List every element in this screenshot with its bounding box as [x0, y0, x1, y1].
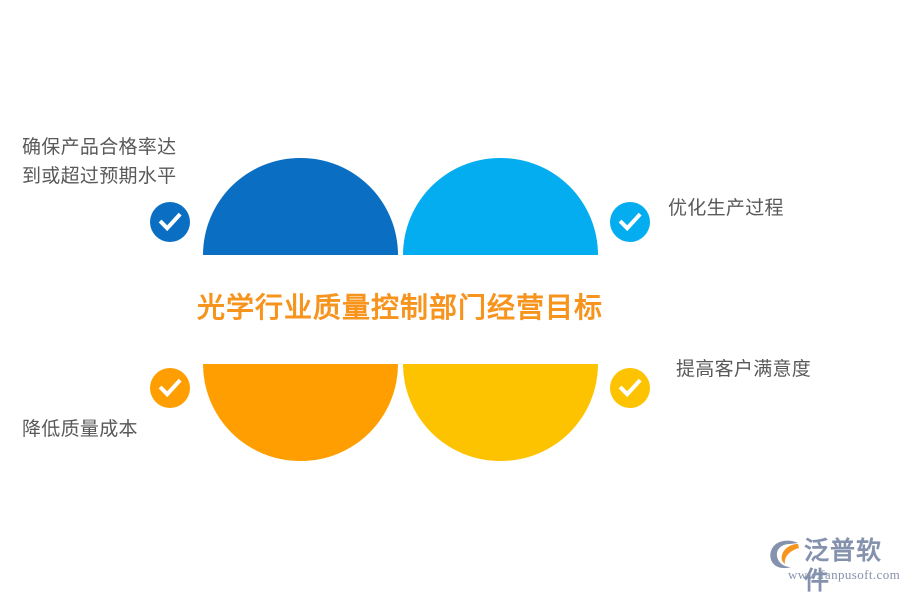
petal-bottom-left: [203, 364, 398, 461]
goal-label-top-right: 优化生产过程: [668, 194, 888, 223]
infographic-canvas: 确保产品合格率达 到或超过预期水平 优化生产过程 降低质量成本 提高客户满意度 …: [0, 0, 900, 600]
check-circle-icon-bottom-right: [610, 368, 650, 408]
logo-url: www.fanpusoft.com: [788, 567, 900, 583]
goal-label-top-left: 确保产品合格率达 到或超过预期水平: [22, 133, 222, 191]
petal-bottom-right: [403, 364, 598, 461]
goal-label-bottom-right: 提高客户满意度: [676, 355, 896, 384]
check-circle-icon-top-left: [150, 202, 190, 242]
page-title: 光学行业质量控制部门经营目标: [0, 286, 800, 326]
petal-top-left: [203, 158, 398, 255]
petal-top-right: [403, 158, 598, 255]
fanpu-c-arc-logo-icon: [768, 540, 802, 570]
goal-label-bottom-left: 降低质量成本: [22, 415, 222, 444]
brand-logo: 泛普软件 www.fanpusoft.com: [768, 534, 894, 586]
check-circle-icon-top-right: [610, 202, 650, 242]
logo-wordmark: 泛普软件: [804, 536, 894, 596]
check-circle-icon-bottom-left: [150, 368, 190, 408]
